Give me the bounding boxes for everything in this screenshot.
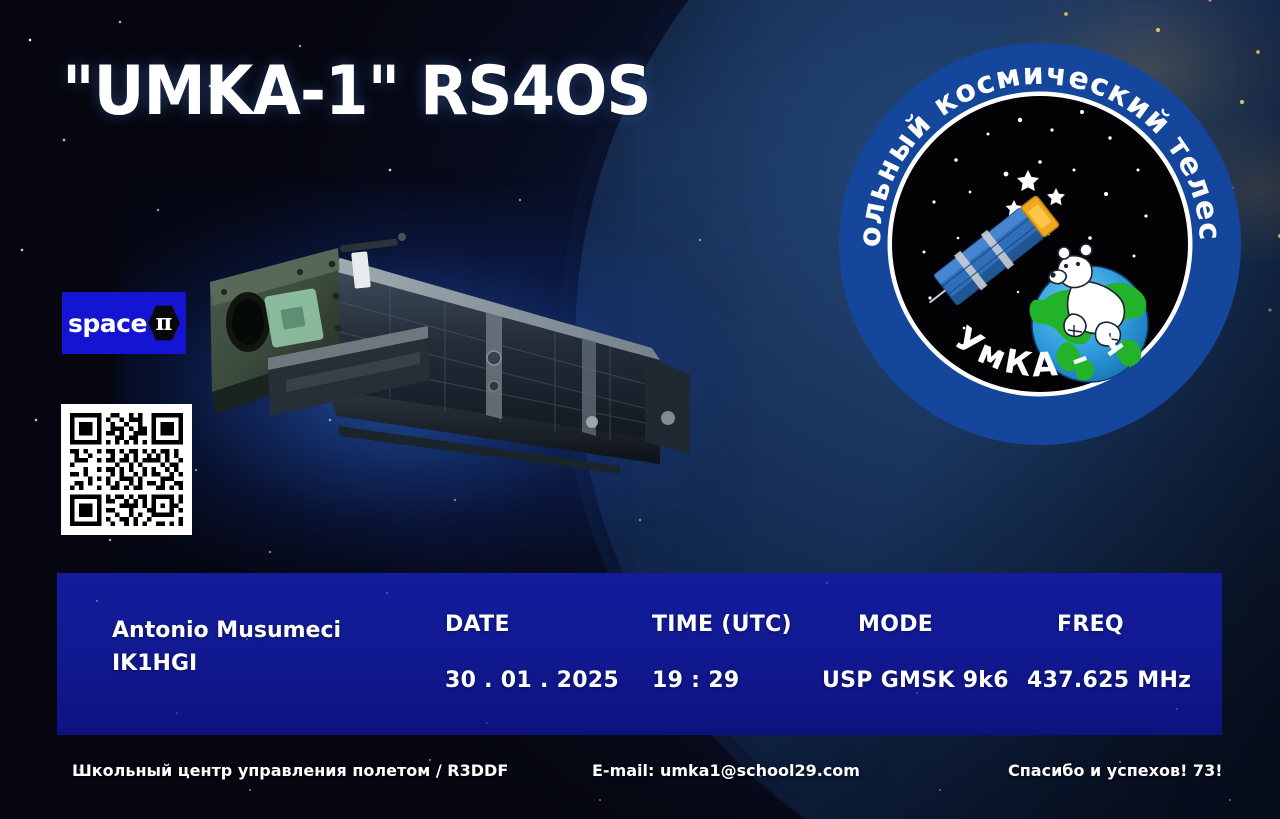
- freq-cell: FREQ 437.625 MHz: [1027, 573, 1222, 735]
- qsl-card: "UMKA-1" RS4OS space π: [0, 0, 1280, 819]
- qso-data-panel: Antonio Musumeci IK1HGI DATE 30 . 01 . 2…: [57, 573, 1222, 735]
- date-value: 30 . 01 . 2025: [445, 668, 619, 693]
- space-pi-logo: space π: [62, 292, 186, 354]
- mode-value: USP GMSK 9k6: [822, 668, 1009, 693]
- cubesat-illustration: [190, 230, 710, 530]
- footer-control-center: Школьный центр управления полетом / R3DD…: [72, 761, 508, 780]
- time-header: TIME (UTC): [652, 612, 792, 637]
- freq-header: FREQ: [1057, 612, 1124, 637]
- footer-thanks: Спасибо и успехов! 73!: [1008, 761, 1223, 780]
- mission-emblem: Школьный космический телескоп УмКА – 1: [838, 42, 1242, 446]
- mode-cell: MODE USP GMSK 9k6: [822, 573, 1027, 735]
- pi-symbol: π: [156, 311, 173, 334]
- mode-header: MODE: [858, 612, 933, 637]
- operator-callsign: IK1HGI: [112, 651, 197, 676]
- qr-code[interactable]: [61, 404, 192, 535]
- operator-name: Antonio Musumeci: [112, 618, 341, 643]
- footer-email[interactable]: E-mail: umka1@school29.com: [592, 761, 860, 780]
- operator-cell: Antonio Musumeci IK1HGI: [57, 573, 392, 735]
- time-value: 19 : 29: [652, 668, 739, 693]
- freq-value: 437.625 MHz: [1027, 668, 1191, 693]
- time-cell: TIME (UTC) 19 : 29: [622, 573, 822, 735]
- date-header: DATE: [445, 612, 510, 637]
- date-cell: DATE 30 . 01 . 2025: [392, 573, 622, 735]
- page-title: "UMKA-1" RS4OS: [62, 58, 651, 126]
- space-pi-wordmark: space: [68, 311, 147, 336]
- qso-data-grid: Antonio Musumeci IK1HGI DATE 30 . 01 . 2…: [57, 573, 1222, 735]
- footer: Школьный центр управления полетом / R3DD…: [0, 755, 1280, 791]
- hexagon-icon: π: [148, 305, 180, 341]
